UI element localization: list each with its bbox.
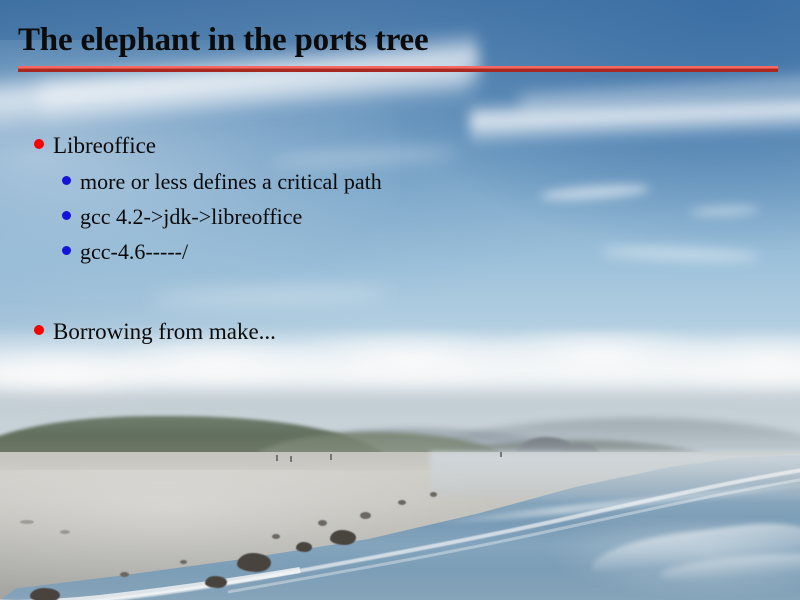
- slide-body: Libreoffice more or less defines a criti…: [0, 128, 800, 351]
- bullet-dot-icon: [62, 246, 71, 255]
- slide-content: The elephant in the ports tree Libreoffi…: [0, 0, 800, 600]
- bullet-text: gcc 4.2->jdk->libreoffice: [80, 200, 302, 233]
- bullet-text: more or less defines a critical path: [80, 165, 382, 198]
- bullet-dot-icon: [62, 176, 71, 185]
- bullet-text: Borrowing from make...: [53, 314, 276, 349]
- list-item: Libreoffice: [0, 128, 800, 163]
- list-spacer: [0, 270, 800, 314]
- list-item: gcc-4.6-----/: [0, 235, 800, 268]
- presentation-slide: The elephant in the ports tree Libreoffi…: [0, 0, 800, 600]
- list-item: more or less defines a critical path: [0, 165, 800, 198]
- bullet-text: gcc-4.6-----/: [80, 235, 188, 268]
- list-item: Borrowing from make...: [0, 314, 800, 349]
- list-item: gcc 4.2->jdk->libreoffice: [0, 200, 800, 233]
- title-underline-rule: [18, 66, 778, 72]
- bullet-text: Libreoffice: [53, 128, 156, 163]
- bullet-dot-icon: [62, 211, 71, 220]
- bullet-dot-icon: [34, 325, 44, 335]
- slide-title: The elephant in the ports tree: [18, 23, 428, 58]
- bullet-dot-icon: [34, 139, 44, 149]
